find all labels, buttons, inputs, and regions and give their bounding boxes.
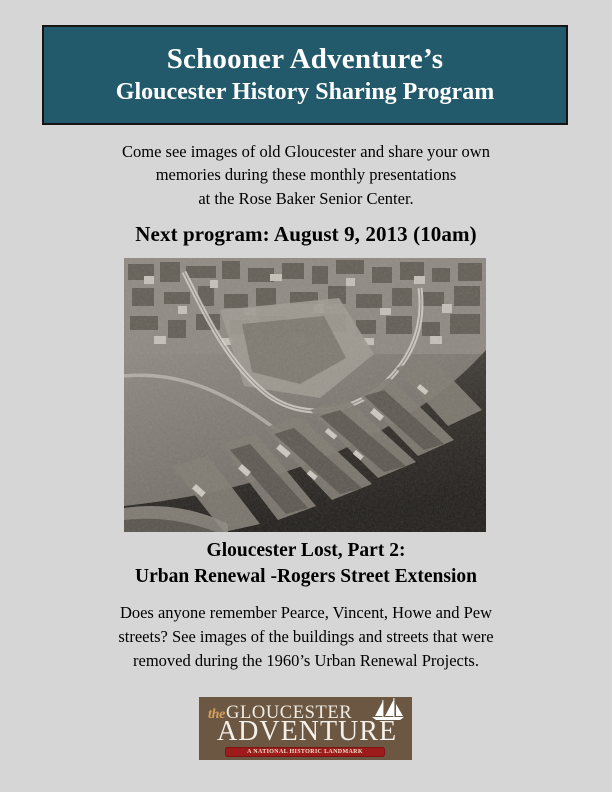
next-program-headline: Next program: August 9, 2013 (10am) [56, 222, 556, 247]
caption-line-1: Gloucester Lost, Part 2: [56, 538, 556, 564]
caption-line-2: Urban Renewal -Rogers Street Extension [56, 564, 556, 590]
aerial-photo [124, 258, 486, 532]
description-line-3: removed during the 1960’s Urban Renewal … [56, 649, 556, 673]
adventure-logo: the GLOUCESTER ADVENTURE A NATIONAL HIST… [199, 697, 412, 760]
intro-paragraph: Come see images of old Gloucester and sh… [56, 140, 556, 210]
intro-line-3: at the Rose Baker Senior Center. [56, 187, 556, 210]
intro-line-2: memories during these monthly presentati… [56, 163, 556, 186]
logo-adventure-word: ADVENTURE [208, 718, 406, 746]
intro-line-1: Come see images of old Gloucester and sh… [56, 140, 556, 163]
logo-landmark-ribbon: A NATIONAL HISTORIC LANDMARK [225, 747, 385, 757]
description-paragraph: Does anyone remember Pearce, Vincent, Ho… [56, 601, 556, 673]
header-title-line1: Schooner Adventure’s [167, 43, 444, 75]
header-banner: Schooner Adventure’s Gloucester History … [42, 25, 568, 125]
logo-ribbon-text: A NATIONAL HISTORIC LANDMARK [247, 749, 363, 755]
header-title-line2: Gloucester History Sharing Program [116, 78, 494, 107]
description-line-1: Does anyone remember Pearce, Vincent, Ho… [56, 601, 556, 625]
aerial-photo-graphic [124, 258, 486, 532]
description-line-2: streets? See images of the buildings and… [56, 625, 556, 649]
photo-caption: Gloucester Lost, Part 2: Urban Renewal -… [56, 538, 556, 590]
